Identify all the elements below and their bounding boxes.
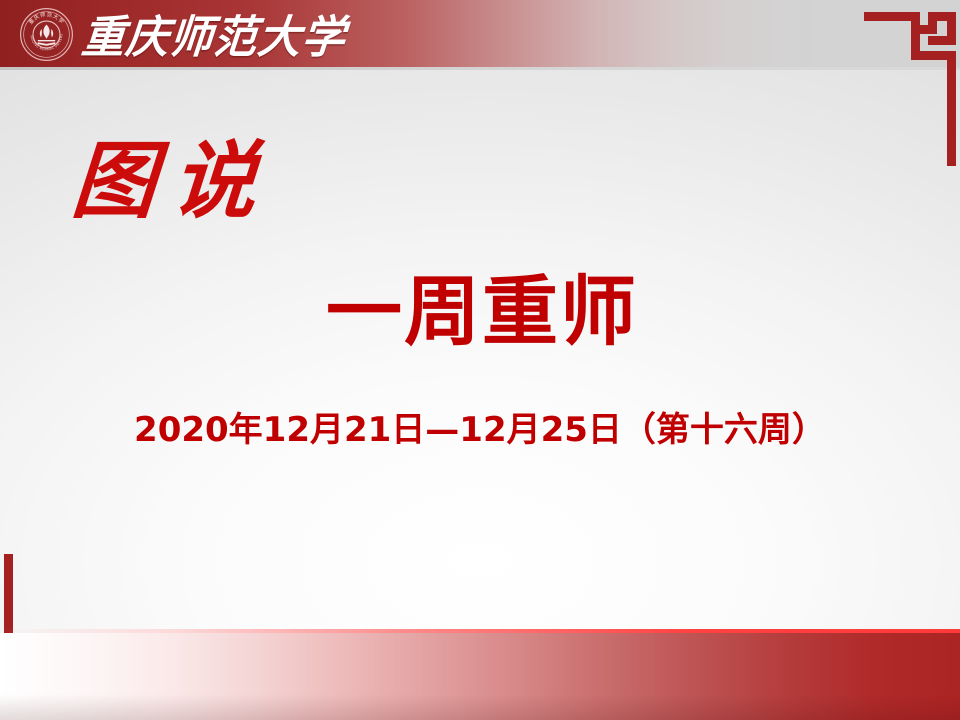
meander-corner-ornament-top-right: [864, 0, 960, 166]
presentation-slide: 重庆师范大学 CHONGQING NORMAL UNIVERSITY 重庆师范大…: [0, 0, 960, 720]
footer-band: [0, 633, 960, 720]
slide-subtitle-date: 2020年12月21日—12月25日（第十六周）: [0, 409, 960, 452]
header-underline: [0, 67, 960, 70]
slide-title-brush: 图说: [69, 139, 275, 223]
university-seal-logo: 重庆师范大学 CHONGQING NORMAL UNIVERSITY: [19, 7, 74, 62]
slide-title-main: 一周重师: [326, 274, 638, 350]
university-wordmark: 重庆师范大学: [79, 3, 348, 65]
